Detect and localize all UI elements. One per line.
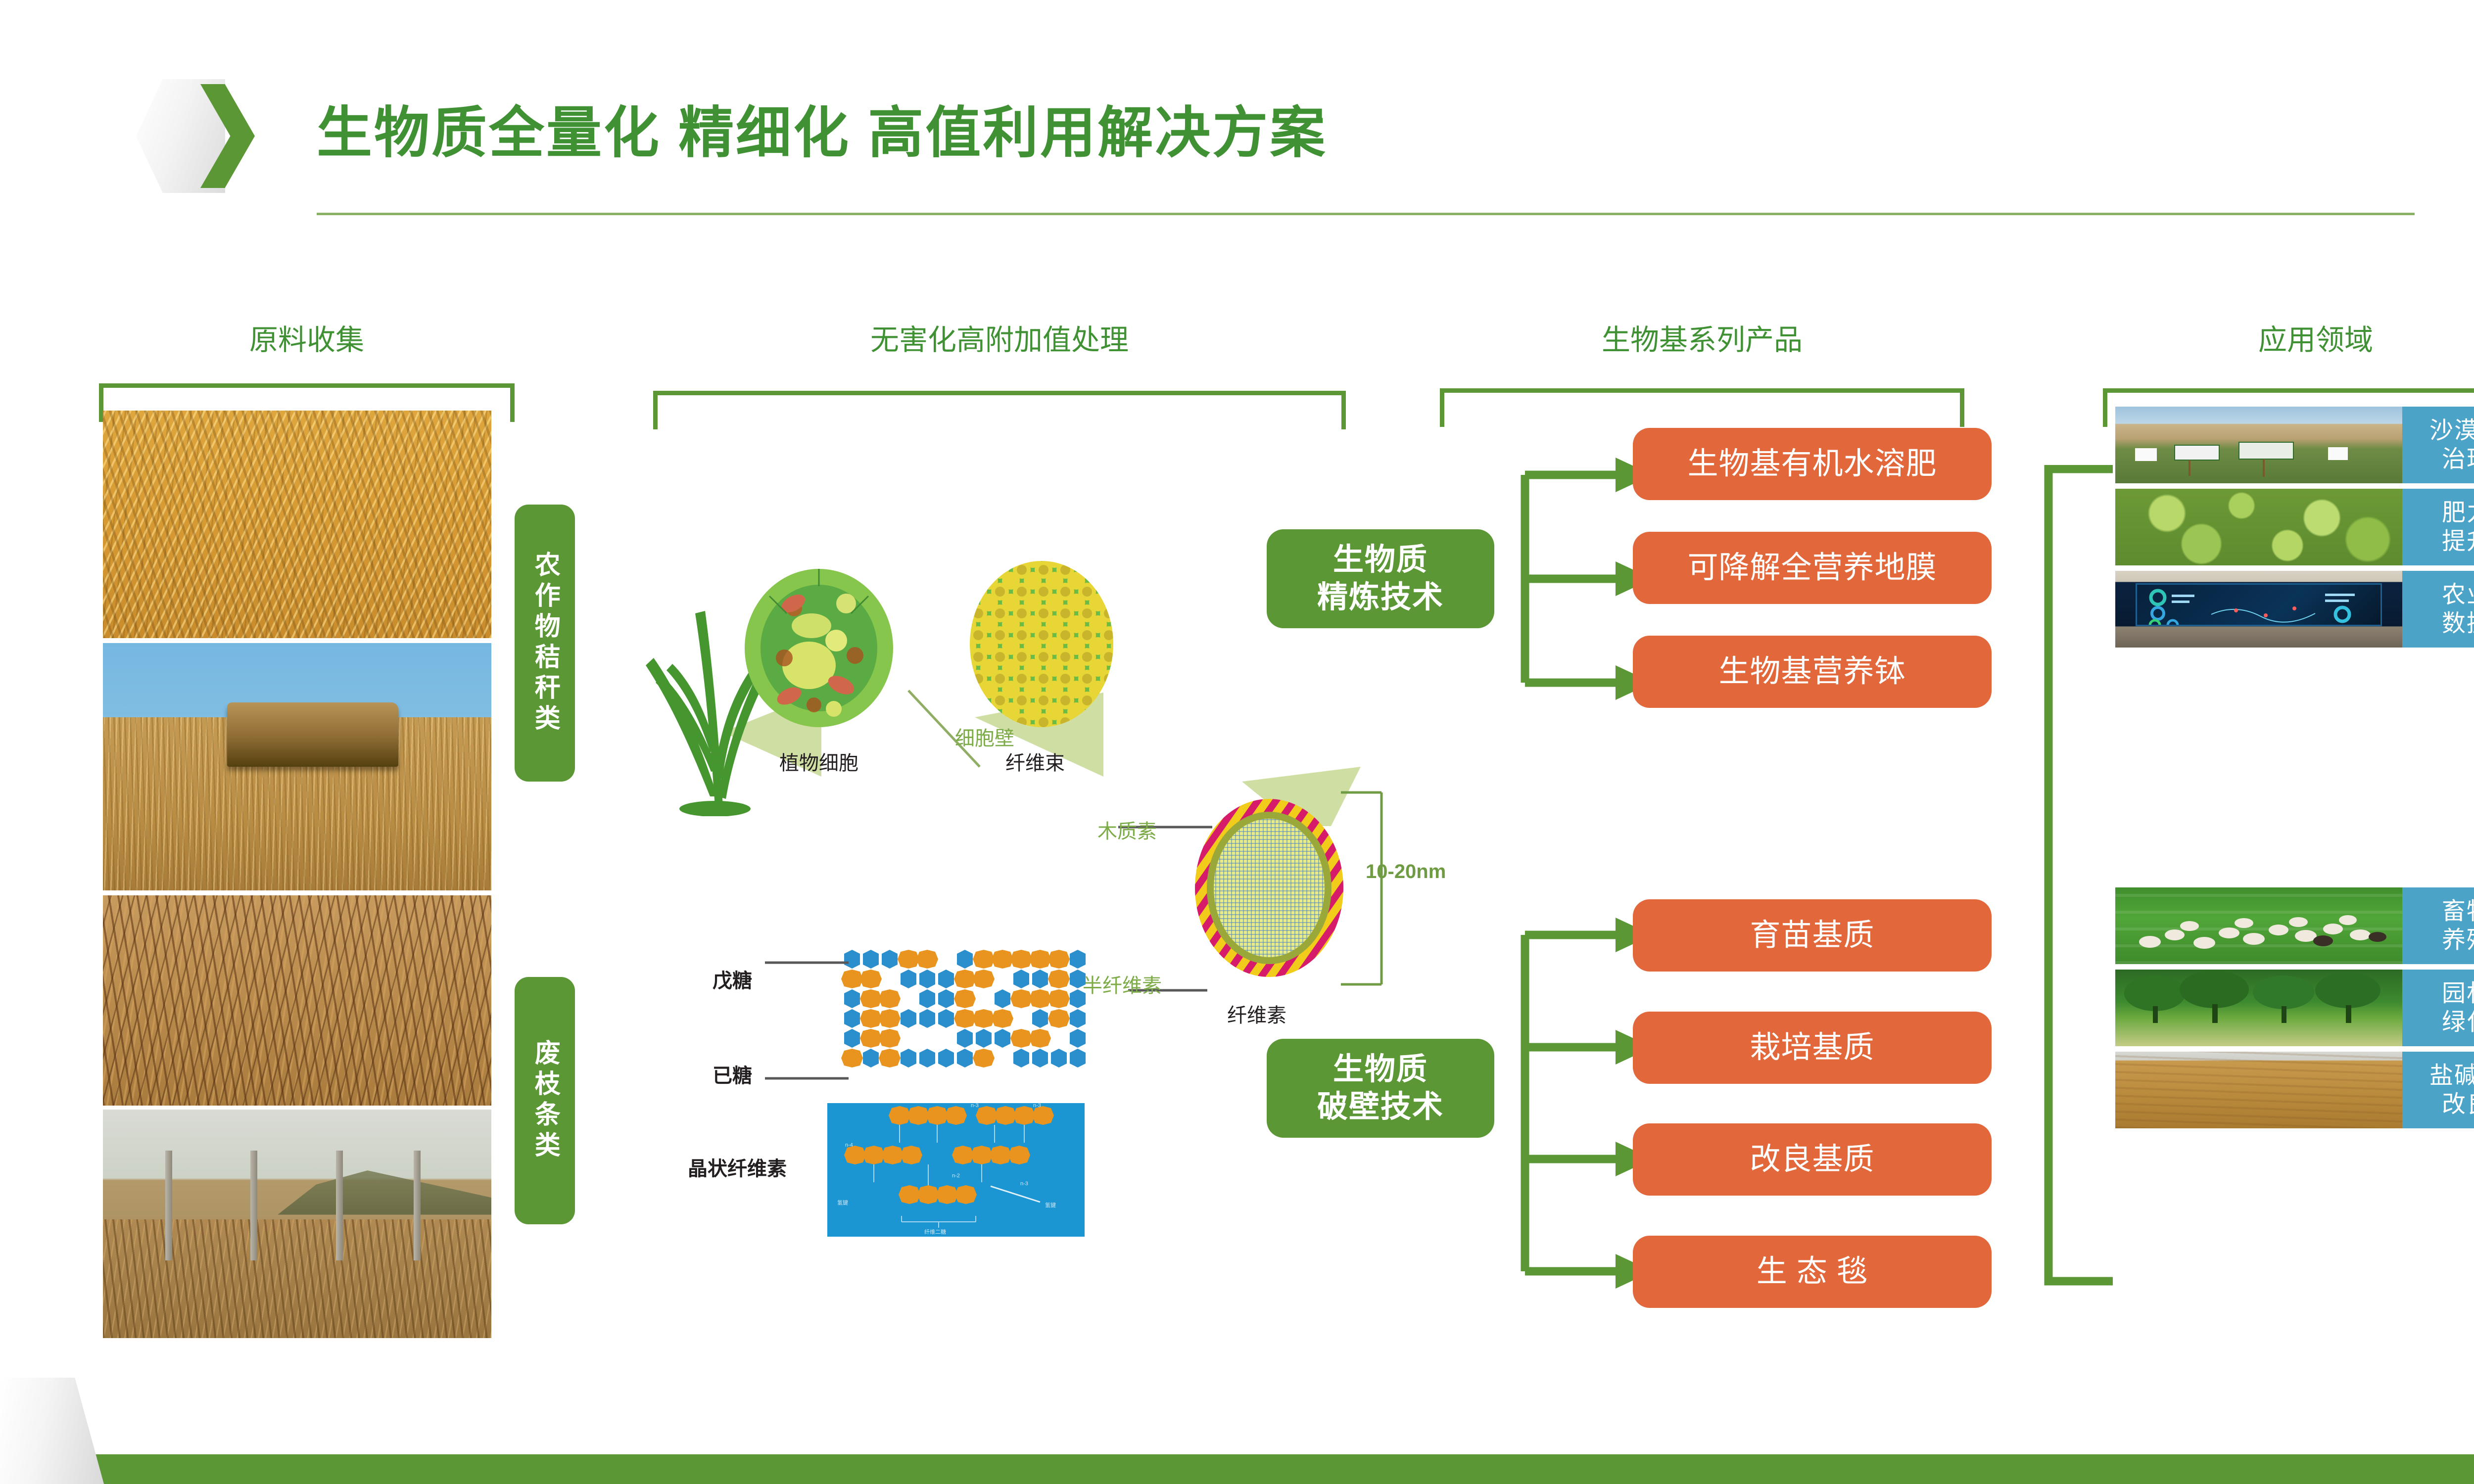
- app-label-livestock[interactable]: 畜牧 养殖: [2402, 887, 2474, 964]
- app-photo-saline-soil: [2115, 1052, 2402, 1128]
- app-label-desertification-line2: 治理: [2442, 445, 2474, 474]
- connector-applications-bracket: [2034, 465, 2123, 1286]
- app-label-landscaping[interactable]: 园林 绿化: [2402, 970, 2474, 1046]
- label-hexose: 已糖: [713, 1060, 752, 1088]
- photo-straw-bale: [103, 643, 491, 890]
- label-lignin: 木质素: [1097, 815, 1157, 844]
- svg-text:氢键: 氢键: [837, 1199, 848, 1206]
- bracket-products: [1440, 388, 1964, 427]
- tech-wallbreaking-line1: 生物质: [1333, 1051, 1428, 1088]
- title-underline: [317, 213, 2415, 215]
- page-title: 生物质全量化 精细化 高值利用解决方案: [317, 88, 1327, 168]
- app-photo-landscaping: [2115, 970, 2402, 1046]
- svg-text:氢键: 氢键: [1045, 1202, 1056, 1208]
- photo-orchard-pruning: [103, 1110, 491, 1338]
- photo-dry-branches: [103, 895, 491, 1106]
- label-fiber-bundle: 纤维束: [1005, 747, 1065, 776]
- footer-bar: [0, 1454, 2474, 1484]
- app-photo-fertility: [2115, 489, 2402, 565]
- svg-text:n-3: n-3: [1020, 1181, 1028, 1187]
- crystalline-cellulose-panel: n-3 n-3 n-4 n-3 n-2 纤维二糖 氢键 氢键: [827, 1103, 1085, 1237]
- photo-corn-stalks: [103, 411, 491, 638]
- app-label-fertility[interactable]: 肥力 提升: [2402, 489, 2474, 565]
- svg-text:n-3: n-3: [1033, 1103, 1041, 1109]
- sugar-leader-lines: [762, 955, 851, 1093]
- tech-refining-line2: 精炼技术: [1317, 579, 1444, 616]
- app-label-fertility-line2: 提升: [2442, 527, 2474, 556]
- section-header-processing: 无害化高附加值处理: [658, 317, 1341, 358]
- tech-wallbreaking-line2: 破壁技术: [1317, 1088, 1444, 1126]
- tech-box-wallbreaking[interactable]: 生物质 破壁技术: [1267, 1039, 1494, 1138]
- product-box-2[interactable]: 可降解全营养地膜: [1633, 532, 1992, 604]
- app-photo-livestock: [2115, 887, 2402, 964]
- product-box-6[interactable]: 改良基质: [1633, 1123, 1992, 1196]
- section-header-raw-material: 原料收集: [153, 317, 460, 358]
- app-label-saline-line2: 改良: [2442, 1090, 2474, 1119]
- section-header-products: 生物基系列产品: [1430, 317, 1974, 358]
- bracket-processing: [653, 391, 1346, 429]
- slide-canvas: 生物质全量化 精细化 高值利用解决方案 原料收集 无害化高附加值处理 生物基系列…: [0, 0, 2474, 1484]
- app-label-saline-soil[interactable]: 盐碱地 改良: [2402, 1052, 2474, 1128]
- hexagon-decoration: [136, 79, 250, 193]
- app-label-agridata[interactable]: 农业 数据: [2402, 571, 2474, 648]
- tech-box-refining[interactable]: 生物质 精炼技术: [1267, 529, 1494, 628]
- app-label-agridata-line1: 农业: [2442, 581, 2474, 609]
- app-label-agridata-line2: 数据: [2442, 609, 2474, 638]
- size-measure-bracket: [1336, 787, 1395, 994]
- plant-cell-diagram: [740, 566, 898, 730]
- tech-refining-line1: 生物质: [1333, 541, 1428, 579]
- app-label-fertility-line1: 肥力: [2442, 499, 2474, 527]
- app-label-livestock-line1: 畜牧: [2442, 897, 2474, 926]
- app-photo-agridata: [2115, 571, 2402, 648]
- label-cellulose: 纤维素: [1227, 999, 1286, 1028]
- product-box-1[interactable]: 生物基有机水溶肥: [1633, 428, 1992, 500]
- product-box-4[interactable]: 育苗基质: [1633, 899, 1992, 972]
- label-fiber-size: 10-20nm: [1366, 861, 1446, 883]
- app-label-landscaping-line1: 园林: [2442, 979, 2474, 1008]
- svg-text:n-4: n-4: [845, 1142, 853, 1148]
- label-crystalline-cellulose: 晶状纤维素: [688, 1153, 787, 1181]
- app-photo-desertification: [2115, 407, 2402, 483]
- app-label-landscaping-line2: 绿化: [2442, 1008, 2474, 1037]
- svg-text:纤维二糖: 纤维二糖: [924, 1228, 946, 1235]
- category-pill-crop-straw: 农作物秸秆类: [515, 505, 575, 782]
- section-header-applications: 应用领域: [2088, 317, 2474, 358]
- product-box-5[interactable]: 栽培基质: [1633, 1012, 1992, 1084]
- svg-text:n-3: n-3: [971, 1103, 979, 1109]
- connector-arrows-group2: [1494, 905, 1658, 1301]
- svg-text:n-2: n-2: [952, 1173, 960, 1179]
- label-plant-cell: 植物细胞: [779, 747, 858, 776]
- category-pill-waste-branches: 废枝条类: [515, 977, 575, 1224]
- app-label-saline-line1: 盐碱地: [2429, 1062, 2474, 1090]
- footer-wedge-decoration: [0, 1378, 104, 1484]
- app-label-livestock-line2: 养殖: [2442, 926, 2474, 955]
- label-pentose: 戊糖: [713, 965, 752, 993]
- sugar-mosaic-diagram: [841, 950, 1098, 1093]
- product-box-3[interactable]: 生物基营养钵: [1633, 636, 1992, 708]
- product-box-7[interactable]: 生 态 毯: [1633, 1236, 1992, 1308]
- app-label-desertification[interactable]: 沙漠化 治理: [2402, 407, 2474, 483]
- app-label-desertification-line1: 沙漠化: [2429, 417, 2474, 445]
